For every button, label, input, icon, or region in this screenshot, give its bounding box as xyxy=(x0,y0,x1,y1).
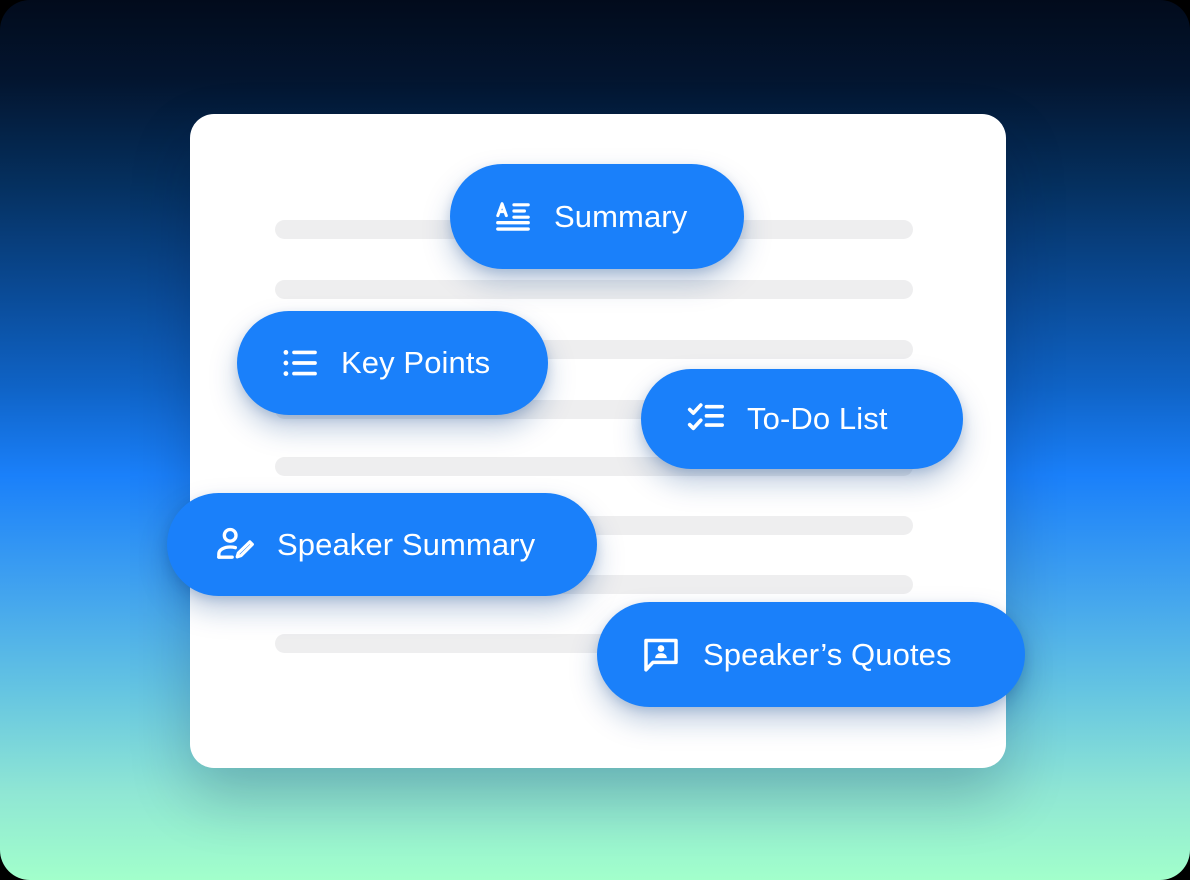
chip-speakers-quotes[interactable]: Speaker’s Quotes xyxy=(597,602,1025,707)
person-edit-icon xyxy=(215,525,255,565)
chip-to-do-list[interactable]: To-Do List xyxy=(641,369,963,469)
chip-key-points-label: Key Points xyxy=(341,345,490,381)
screenshot-canvas: Summary Key Points To-Do xyxy=(0,0,1190,880)
bulleted-list-icon xyxy=(281,344,319,382)
chip-summary-label: Summary xyxy=(554,199,687,235)
chip-speakers-quotes-label: Speaker’s Quotes xyxy=(703,637,952,673)
chip-speaker-summary-label: Speaker Summary xyxy=(277,527,535,563)
text-summary-icon xyxy=(494,198,532,236)
chip-key-points[interactable]: Key Points xyxy=(237,311,548,415)
checklist-icon xyxy=(687,400,725,438)
speech-bubble-person-icon xyxy=(641,635,681,675)
placeholder-bar xyxy=(275,280,913,299)
chip-to-do-list-label: To-Do List xyxy=(747,401,888,437)
chip-summary[interactable]: Summary xyxy=(450,164,744,269)
chip-speaker-summary[interactable]: Speaker Summary xyxy=(167,493,597,596)
